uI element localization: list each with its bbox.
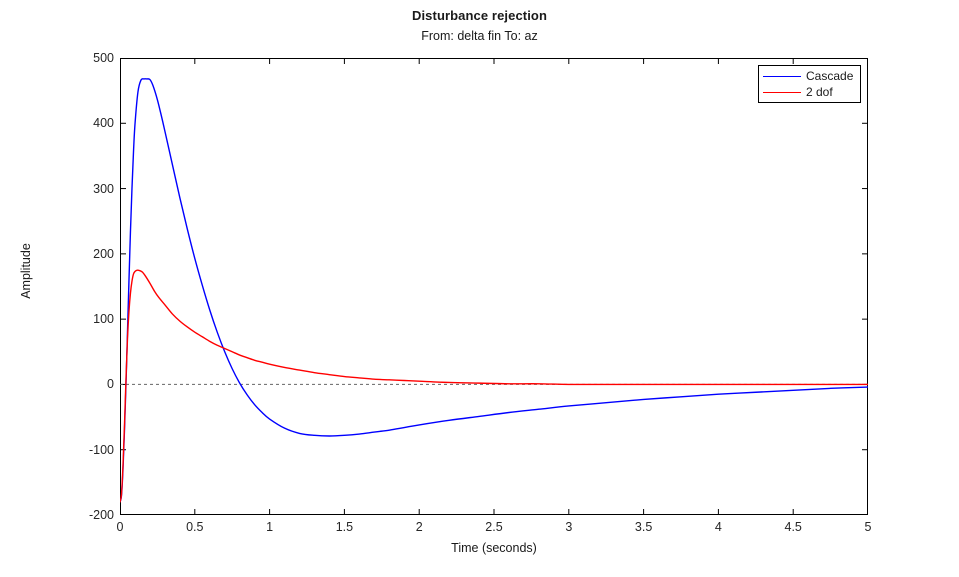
legend-line-icon	[763, 76, 801, 77]
y-tick-label: 100	[70, 313, 114, 325]
x-tick-label: 2	[416, 520, 423, 534]
legend-label: Cascade	[806, 70, 853, 82]
x-tick-label: 1	[266, 520, 273, 534]
x-tick-label: 0	[117, 520, 124, 534]
y-axis-label: Amplitude	[19, 211, 33, 331]
x-tick-label: 4.5	[784, 520, 801, 534]
legend-entry[interactable]: Cascade	[763, 68, 853, 84]
x-axis-label: Time (seconds)	[120, 541, 868, 555]
tick-marks	[120, 58, 868, 515]
x-tick-label: 1.5	[336, 520, 353, 534]
x-tick-label: 2.5	[485, 520, 502, 534]
legend-label: 2 dof	[806, 86, 833, 98]
x-tick-label: 0.5	[186, 520, 203, 534]
x-axis-tick-labels: 00.511.522.533.544.55	[120, 518, 868, 538]
x-tick-label: 3	[565, 520, 572, 534]
y-tick-label: 300	[70, 183, 114, 195]
series-lines	[120, 79, 868, 502]
figure-subtitle: From: delta fin To: az	[0, 29, 959, 43]
x-tick-label: 4	[715, 520, 722, 534]
page-title: Disturbance rejection	[0, 8, 959, 23]
legend[interactable]: Cascade2 dof	[758, 65, 861, 103]
y-tick-label: 500	[70, 52, 114, 64]
legend-line-icon	[763, 92, 801, 93]
plot-canvas	[120, 58, 868, 515]
x-tick-label: 5	[865, 520, 872, 534]
y-axis-tick-labels: 5004003002001000-100-200	[66, 58, 114, 515]
y-tick-label: -100	[70, 444, 114, 456]
y-tick-label: -200	[70, 509, 114, 521]
legend-entry[interactable]: 2 dof	[763, 84, 833, 100]
y-tick-label: 200	[70, 248, 114, 260]
series-line-2-dof	[120, 270, 868, 502]
y-tick-label: 0	[70, 378, 114, 390]
y-tick-label: 400	[70, 117, 114, 129]
series-line-cascade	[120, 79, 868, 502]
x-tick-label: 3.5	[635, 520, 652, 534]
matlab-figure: Disturbance rejection From: delta fin To…	[0, 0, 959, 577]
